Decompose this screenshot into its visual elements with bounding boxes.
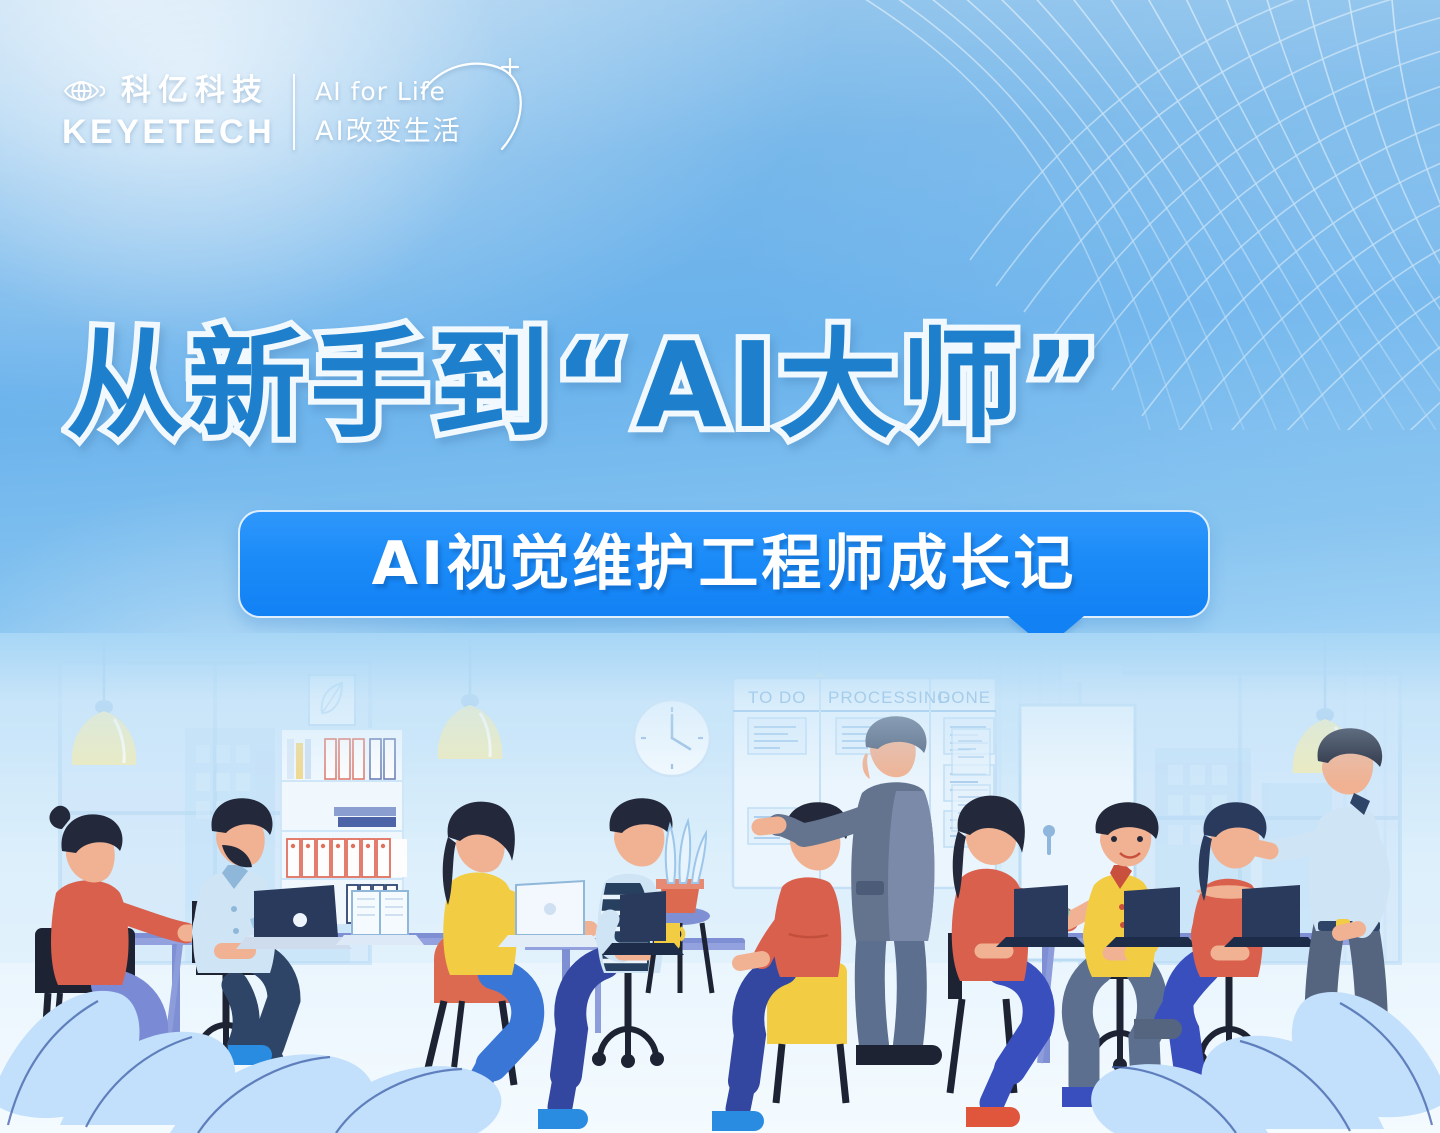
svg-text:PROCESSING: PROCESSING <box>828 688 951 707</box>
wall-clock <box>634 700 710 776</box>
brand-logo-lockup[interactable]: 科亿科技 KEYETECH AI for Life AI改变生活 <box>62 74 532 150</box>
sparkle-icon <box>502 59 518 75</box>
brand-tagline-block: AI for Life AI改变生活 <box>315 79 531 145</box>
wall-picture <box>309 675 355 725</box>
brand-name-en: KEYETECH <box>62 115 275 149</box>
eye-icon <box>62 76 108 106</box>
logo-divider <box>293 74 295 150</box>
svg-text:DONE: DONE <box>938 688 991 707</box>
poster-root: 科亿科技 KEYETECH AI for Life AI改变生活 从新手到“AI… <box>0 0 1440 1133</box>
subtitle-text: AI视觉维护工程师成长记 <box>372 534 1077 594</box>
subtitle-banner: AI视觉维护工程师成长记 <box>238 510 1210 618</box>
brand-name-cn: 科亿科技 <box>121 76 269 106</box>
svg-text:TO DO: TO DO <box>748 688 807 707</box>
swoosh-arc-icon <box>418 57 538 165</box>
page-title: 从新手到“AI大师” <box>66 326 1104 444</box>
office-team-illustration: TO DO PROCESSING DONE <box>0 633 1440 1133</box>
brand-name-block: 科亿科技 KEYETECH <box>62 76 275 149</box>
